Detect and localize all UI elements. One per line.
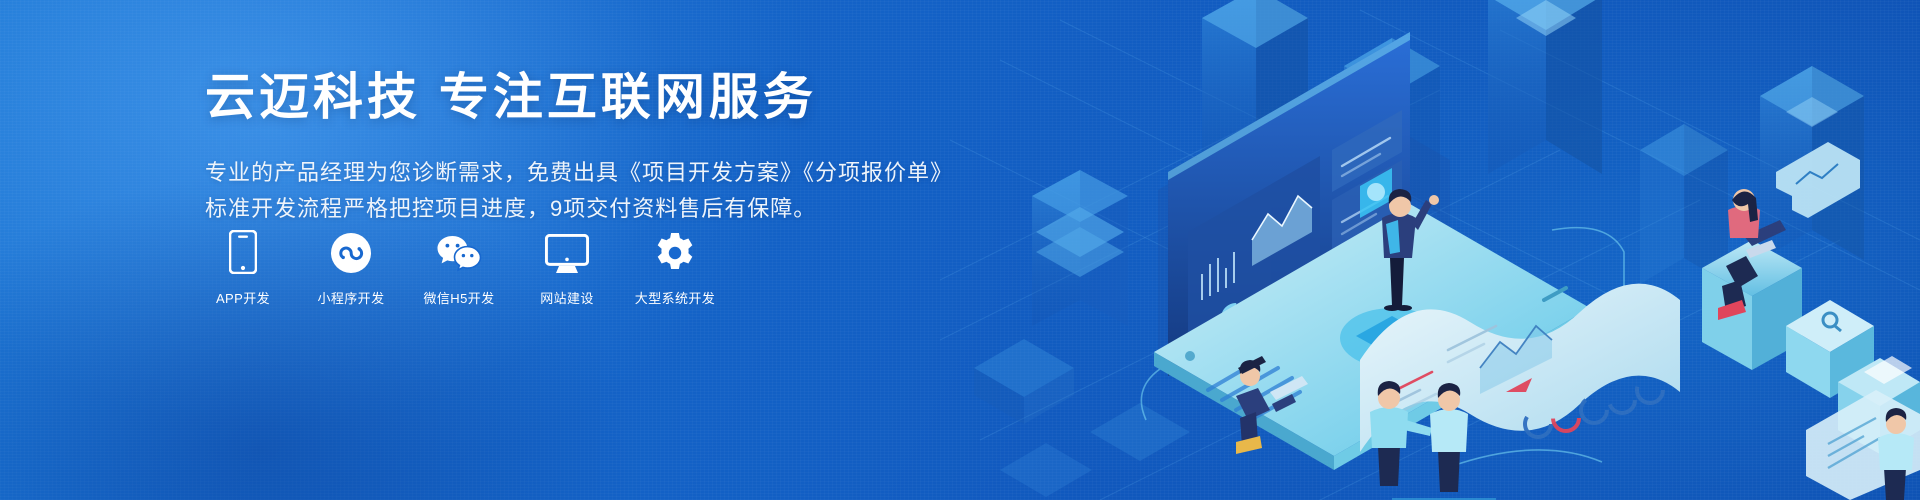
service-label: 大型系统开发 xyxy=(635,288,715,307)
service-item-website[interactable]: 网站建设 xyxy=(529,228,605,307)
subtitle-line-2: 标准开发流程严格把控项目进度，9项交付资料售后有保障。 xyxy=(205,191,905,227)
service-label: 网站建设 xyxy=(540,288,594,307)
mini-program-icon xyxy=(330,228,372,274)
service-item-wechat[interactable]: 微信H5开发 xyxy=(421,228,497,307)
hero-banner: 云迈科技 专注互联网服务 专业的产品经理为您诊断需求，免费出具《项目开发方案》《… xyxy=(0,0,1920,500)
gear-icon xyxy=(654,228,696,274)
mobile-phone-icon xyxy=(229,228,257,274)
service-label: 微信H5开发 xyxy=(423,288,494,307)
wechat-icon xyxy=(436,228,482,274)
monitor-icon xyxy=(545,228,589,274)
service-item-system[interactable]: 大型系统开发 xyxy=(637,228,713,307)
banner-subtitle: 专业的产品经理为您诊断需求，免费出具《项目开发方案》《分项报价单》 标准开发流程… xyxy=(205,155,905,226)
service-item-miniprogram[interactable]: 小程序开发 xyxy=(313,228,389,307)
subtitle-line-1: 专业的产品经理为您诊断需求，免费出具《项目开发方案》《分项报价单》 xyxy=(205,155,905,191)
isometric-illustration xyxy=(940,0,1920,500)
service-list: APP开发 小程序开发 xyxy=(205,228,713,307)
service-label: APP开发 xyxy=(216,288,270,307)
service-label: 小程序开发 xyxy=(317,288,384,307)
banner-copy: 云迈科技 专注互联网服务 专业的产品经理为您诊断需求，免费出具《项目开发方案》《… xyxy=(205,68,905,226)
service-item-app[interactable]: APP开发 xyxy=(205,228,281,307)
page-title: 云迈科技 专注互联网服务 xyxy=(205,68,905,127)
